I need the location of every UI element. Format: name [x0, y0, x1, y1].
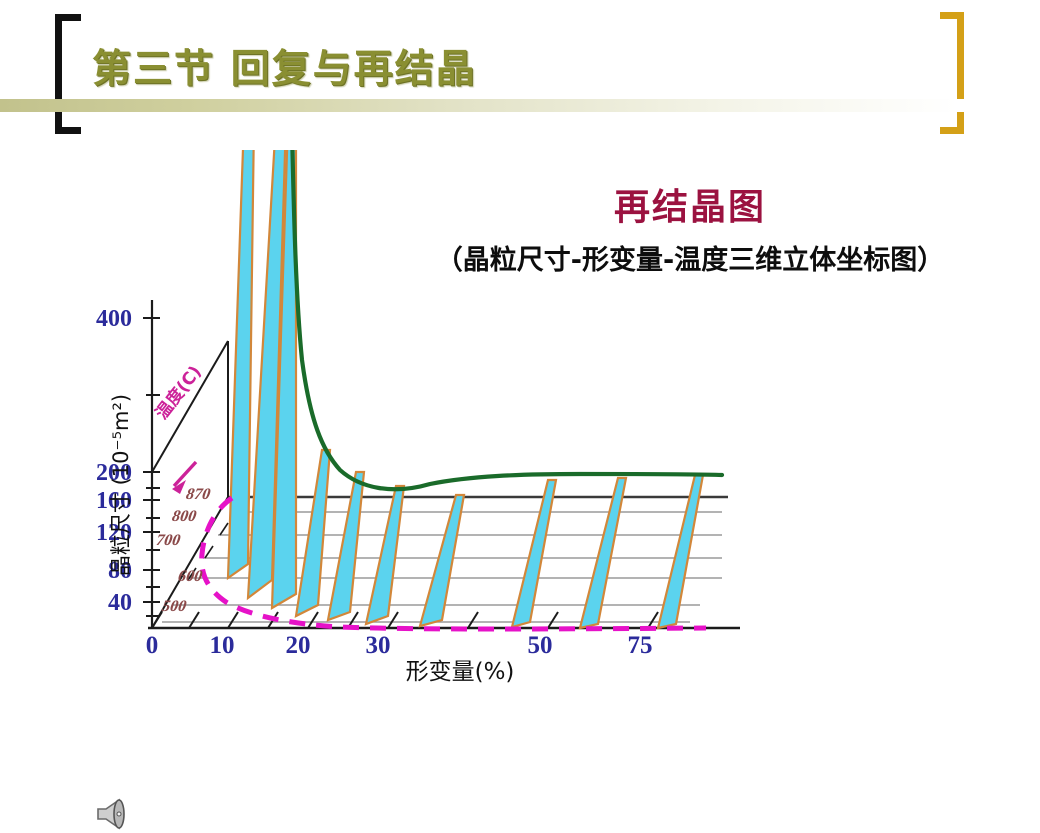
y-axis-label-text: 晶粒尺寸 (10⁻⁵m²) [109, 394, 133, 576]
x-tick-label-20: 20 [276, 632, 320, 660]
fin-30-percent [420, 495, 464, 626]
y-tick-label-400: 400 [72, 306, 132, 333]
x-axis-label: 形变量(%) [330, 652, 590, 686]
x-tick-label-0: 0 [130, 632, 174, 660]
x-tick-10 [228, 612, 238, 628]
x-tick-label-75: 75 [618, 632, 662, 660]
slide-title: 第三节 回复与再结晶 [92, 38, 477, 94]
speaker-center-dot [117, 812, 121, 816]
decorative-bracket-right [940, 12, 964, 134]
header-gradient-rule [0, 99, 1040, 112]
fin-20-percent [328, 472, 364, 620]
x-tick-65 [648, 612, 658, 628]
recrystallization-3d-chart: 400 200 160 120 80 40 0 10 20 30 50 75 8… [0, 150, 1040, 720]
temp-tick-700 [220, 523, 228, 535]
grain-size-curve [292, 150, 722, 489]
fin-24-percent [366, 486, 404, 624]
x-tick-40 [468, 612, 478, 628]
x-tick-30 [388, 612, 398, 628]
temp-tick-650 [205, 546, 213, 558]
fin-10-percent [228, 150, 254, 578]
x-tick-label-10: 10 [200, 632, 244, 660]
grain-size-fins [228, 150, 703, 628]
y-axis-label: 晶粒尺寸 (10⁻⁵m²) [105, 355, 135, 615]
speaker-icon[interactable] [92, 795, 134, 833]
slide-header: 第三节 回复与再结晶 [0, 0, 1040, 150]
x-tick-50 [548, 612, 558, 628]
x-tick-5 [189, 612, 199, 628]
fin-17-percent [296, 450, 330, 616]
decorative-bracket-left [55, 14, 81, 134]
